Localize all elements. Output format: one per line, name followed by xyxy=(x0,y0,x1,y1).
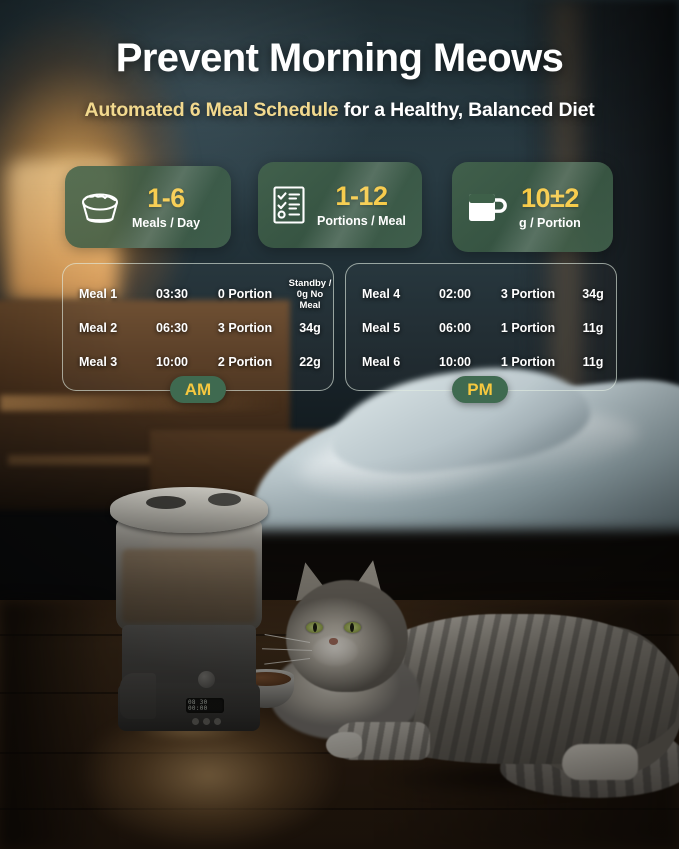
meal-time: 02:00 xyxy=(424,287,486,301)
subtitle-rest: for a Healthy, Balanced Diet xyxy=(338,99,594,121)
meal-portion: 1 Portion xyxy=(486,355,570,369)
feature-card-value: 1-6 xyxy=(147,185,185,212)
feature-card-meals-per-day: 1-6 Meals / Day xyxy=(65,166,231,248)
meal-portion: 3 Portion xyxy=(203,321,287,335)
schedule-panel-pm: Meal 4 02:00 3 Portion 34g Meal 5 06:00 … xyxy=(345,263,617,391)
subtitle-highlight: Automated 6 Meal Schedule xyxy=(84,99,338,121)
page-subtitle: Automated 6 Meal Schedule for a Healthy,… xyxy=(0,99,679,122)
meal-portion: 3 Portion xyxy=(486,287,570,301)
meal-grams-line2: 0g No Meal xyxy=(297,289,323,311)
table-row: Meal 5 06:00 1 Portion 11g xyxy=(346,311,616,345)
table-row: Meal 3 10:00 2 Portion 22g xyxy=(63,345,333,379)
meal-label: Meal 5 xyxy=(346,321,424,335)
pet-bowl-icon xyxy=(79,190,121,224)
meal-label: Meal 3 xyxy=(63,355,141,369)
meal-time: 06:30 xyxy=(141,321,203,335)
meal-time: 10:00 xyxy=(141,355,203,369)
table-row: Meal 2 06:30 3 Portion 34g xyxy=(63,311,333,345)
feature-card-text: 1-6 Meals / Day xyxy=(132,185,200,230)
meal-grams: 22g xyxy=(287,355,333,369)
feature-card-value: 10±2 xyxy=(521,185,579,212)
schedule-panel-am: Meal 1 03:30 0 Portion Standby / 0g No M… xyxy=(62,263,334,391)
feature-card-value: 1-12 xyxy=(335,183,387,210)
feature-card-text: 10±2 g / Portion xyxy=(519,185,581,230)
meal-portion: 2 Portion xyxy=(203,355,287,369)
meal-grams: 11g xyxy=(570,355,616,369)
measuring-cup-icon xyxy=(466,188,508,226)
table-row: Meal 4 02:00 3 Portion 34g xyxy=(346,277,616,311)
feature-card-grams-per-portion: 10±2 g / Portion xyxy=(452,162,613,252)
table-row: Meal 6 10:00 1 Portion 11g xyxy=(346,345,616,379)
meal-grams-line1: Standby / xyxy=(289,278,332,289)
feature-card-row: 1-6 Meals / Day xyxy=(0,160,679,256)
table-row: Meal 1 03:30 0 Portion Standby / 0g No M… xyxy=(63,277,333,311)
meal-label: Meal 4 xyxy=(346,287,424,301)
meal-label: Meal 2 xyxy=(63,321,141,335)
meal-grams: 34g xyxy=(570,287,616,301)
meal-grams: 11g xyxy=(570,321,616,335)
meal-time: 10:00 xyxy=(424,355,486,369)
meal-portion: 0 Portion xyxy=(203,287,287,301)
meal-portion: 1 Portion xyxy=(486,321,570,335)
feature-card-label: Meals / Day xyxy=(132,217,200,230)
status-badge-am: AM xyxy=(170,376,226,403)
promo-graphic: 08 30 00:00 Prevent Morning Meows Automa… xyxy=(0,0,679,849)
feature-card-label: g / Portion xyxy=(519,217,581,230)
checklist-icon xyxy=(272,185,306,225)
meal-label: Meal 6 xyxy=(346,355,424,369)
text-overlay: Prevent Morning Meows Automated 6 Meal S… xyxy=(0,0,679,849)
meal-grams: 34g xyxy=(287,321,333,335)
page-title: Prevent Morning Meows xyxy=(0,36,679,81)
schedule-rows-am: Meal 1 03:30 0 Portion Standby / 0g No M… xyxy=(63,264,333,390)
schedule-rows-pm: Meal 4 02:00 3 Portion 34g Meal 5 06:00 … xyxy=(346,264,616,390)
meal-time: 03:30 xyxy=(141,287,203,301)
feature-card-label: Portions / Meal xyxy=(317,215,406,228)
meal-grams: Standby / 0g No Meal xyxy=(287,278,333,311)
feature-card-text: 1-12 Portions / Meal xyxy=(317,183,406,228)
meal-label: Meal 1 xyxy=(63,287,141,301)
meal-time: 06:00 xyxy=(424,321,486,335)
feature-card-portions-per-meal: 1-12 Portions / Meal xyxy=(258,162,422,248)
status-badge-pm: PM xyxy=(452,376,508,403)
